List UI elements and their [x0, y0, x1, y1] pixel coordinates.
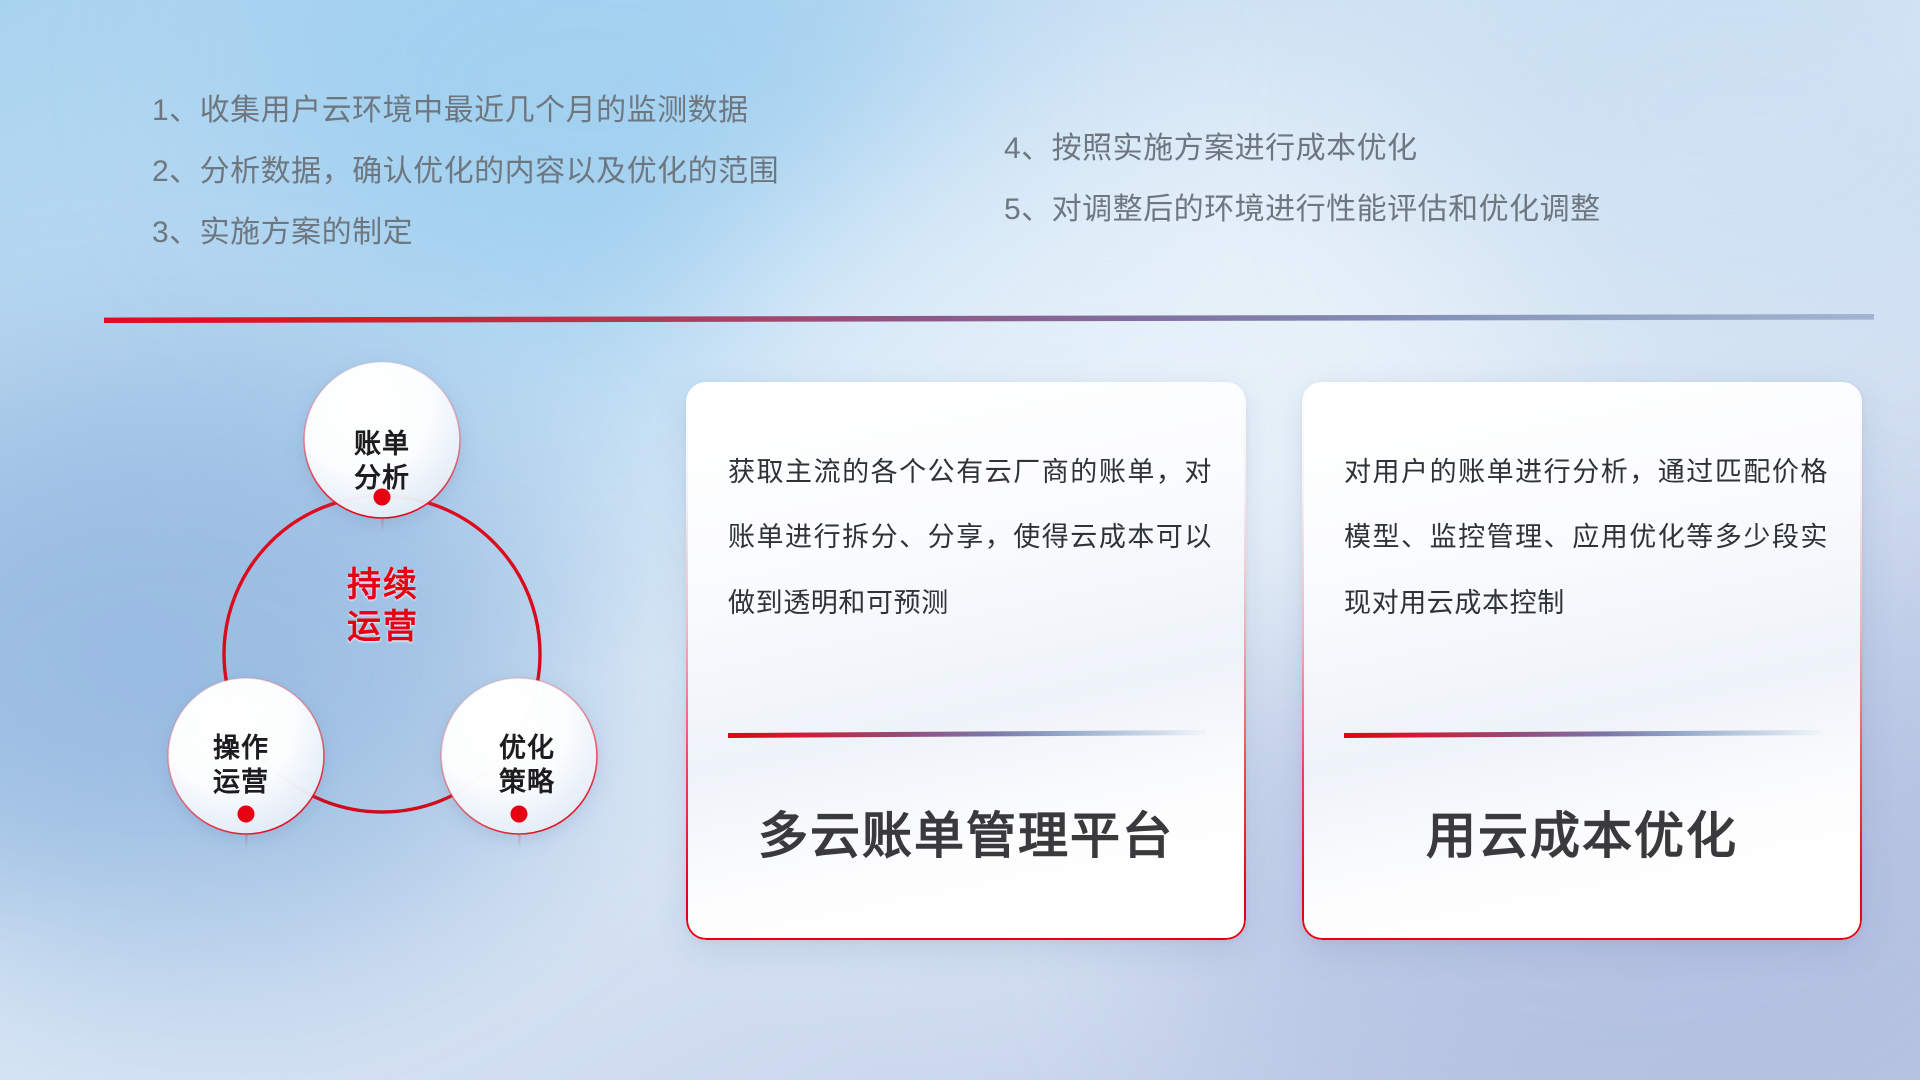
- venn-center-label-line1: 持续: [298, 564, 468, 606]
- steps-column-right: 4、按照实施方案进行成本优化 5、对调整后的环境进行性能评估和优化调整: [1004, 134, 1601, 256]
- step-item-2: 2、分析数据，确认优化的内容以及优化的范围: [152, 157, 779, 187]
- steps-section: 1、收集用户云环境中最近几个月的监测数据 2、分析数据，确认优化的内容以及优化的…: [0, 96, 1920, 296]
- section-divider-line: [104, 314, 1874, 323]
- venn-node-label-right-line1: 优化: [462, 732, 592, 766]
- venn-node-label-left-line1: 操作: [176, 732, 306, 766]
- venn-node-label-top: 账单 分析: [317, 428, 447, 496]
- card-body-text: 获取主流的各个公有云厂商的账单，对账单进行拆分、分享，使得云成本可以做到透明和可…: [728, 440, 1212, 636]
- venn-diagram: 账单 分析 操作 运营 优化 策略 持续 运营: [98, 352, 658, 952]
- venn-node-label-top-line1: 账单: [317, 428, 447, 462]
- step-item-5: 5、对调整后的环境进行性能评估和优化调整: [1004, 195, 1601, 225]
- venn-node-label-right-line2: 策略: [462, 766, 592, 800]
- step-item-3: 3、实施方案的制定: [152, 218, 779, 248]
- card-title: 多云账单管理平台: [686, 796, 1246, 868]
- slide-root: 1、收集用户云环境中最近几个月的监测数据 2、分析数据，确认优化的内容以及优化的…: [0, 0, 1920, 1080]
- venn-dot-left: [238, 806, 255, 823]
- feature-card-cost-optimization[interactable]: 对用户的账单进行分析，通过匹配价格模型、监控管理、应用优化等多少段实现对用云成本…: [1302, 382, 1862, 940]
- venn-dot-right: [511, 806, 528, 823]
- card-title: 用云成本优化: [1302, 796, 1862, 868]
- steps-column-left: 1、收集用户云环境中最近几个月的监测数据 2、分析数据，确认优化的内容以及优化的…: [152, 96, 779, 279]
- feature-card-multicloud-billing[interactable]: 获取主流的各个公有云厂商的账单，对账单进行拆分、分享，使得云成本可以做到透明和可…: [686, 382, 1246, 940]
- card-divider-line: [1344, 730, 1822, 738]
- step-item-4: 4、按照实施方案进行成本优化: [1004, 134, 1601, 164]
- venn-node-label-right: 优化 策略: [462, 732, 592, 800]
- venn-node-label-left-line2: 运营: [176, 766, 306, 800]
- card-body-text: 对用户的账单进行分析，通过匹配价格模型、监控管理、应用优化等多少段实现对用云成本…: [1344, 440, 1828, 636]
- venn-center-label-line2: 运营: [298, 606, 468, 648]
- venn-center-label: 持续 运营: [298, 564, 468, 648]
- step-item-1: 1、收集用户云环境中最近几个月的监测数据: [152, 96, 779, 126]
- venn-node-label-left: 操作 运营: [176, 732, 306, 800]
- card-divider-line: [728, 730, 1206, 738]
- venn-node-label-top-line2: 分析: [317, 462, 447, 496]
